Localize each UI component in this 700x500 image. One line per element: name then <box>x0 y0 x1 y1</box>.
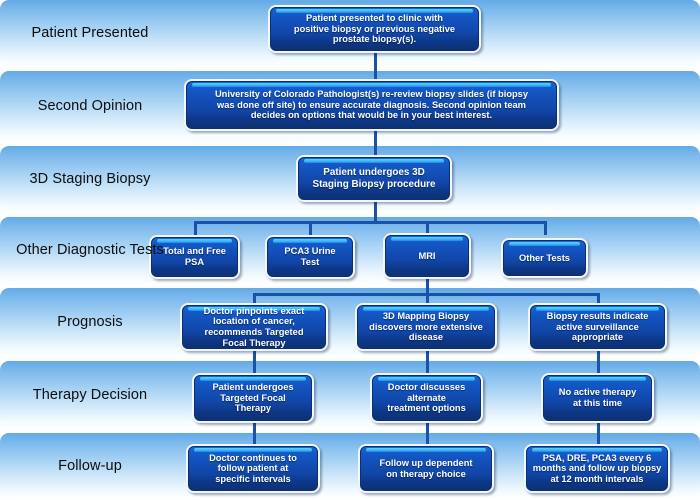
node-text: Patient undergoes Targeted Focal Therapy <box>208 380 297 416</box>
node-text: No active therapy at this time <box>555 385 641 410</box>
node-other-tests[interactable]: Other Tests <box>501 238 588 278</box>
connector-prognosis-to-therapy-2 <box>426 351 429 373</box>
connector-tests-distribution-bus <box>194 221 547 224</box>
node-prognosis-targeted-focal-therapy[interactable]: Doctor pinpoints exact location of cance… <box>180 303 328 351</box>
connector-therapy-to-followup-1 <box>253 423 256 444</box>
node-text: Doctor discusses alternate treatment opt… <box>383 380 470 416</box>
swimlane-label-patient-presented: Patient Presented <box>4 0 176 68</box>
connector-therapy-to-followup-2 <box>426 423 429 444</box>
flowchart-canvas: Patient Presented Second Opinion 3D Stag… <box>0 0 700 500</box>
node-therapy-no-active-therapy[interactable]: No active therapy at this time <box>541 373 654 423</box>
node-text: Other Tests <box>515 251 574 266</box>
node-followup-dependent-on-therapy[interactable]: Follow up dependent on therapy choice <box>358 444 494 493</box>
node-text: Biopsy results indicate active surveilla… <box>543 309 653 345</box>
node-text: Doctor continues to follow patient at sp… <box>205 451 301 487</box>
connector-prognosis-to-therapy-1 <box>253 351 256 373</box>
swimlane-label-3d-staging-biopsy: 3D Staging Biopsy <box>4 146 176 214</box>
node-text: PSA, DRE, PCA3 every 6 months and follow… <box>529 451 666 487</box>
node-text: University of Colorado Pathologist(s) re… <box>211 87 532 123</box>
node-3d-staging-biopsy-procedure[interactable]: Patient undergoes 3D Staging Biopsy proc… <box>296 155 452 202</box>
node-text: Follow up dependent on therapy choice <box>376 456 477 481</box>
swimlane-label-therapy-decision: Therapy Decision <box>4 361 176 430</box>
swimlane-label-prognosis: Prognosis <box>4 288 176 358</box>
connector-bus-to-pca3-urine <box>309 221 312 235</box>
node-patient-presented[interactable]: Patient presented to clinic with positiv… <box>268 5 481 53</box>
node-text: 3D Mapping Biopsy discovers more extensi… <box>365 309 487 345</box>
node-text: Patient presented to clinic with positiv… <box>290 11 459 47</box>
connector-bus-to-prognosis-targeted <box>253 293 256 303</box>
node-text: Doctor pinpoints exact location of cance… <box>200 305 309 349</box>
node-therapy-targeted-focal[interactable]: Patient undergoes Targeted Focal Therapy <box>192 373 314 423</box>
node-followup-specific-intervals[interactable]: Doctor continues to follow patient at sp… <box>186 444 320 493</box>
swimlane-label-follow-up: Follow-up <box>4 433 176 500</box>
node-prognosis-more-extensive-disease[interactable]: 3D Mapping Biopsy discovers more extensi… <box>355 303 497 351</box>
node-text: MRI <box>414 249 439 264</box>
connector-prognosis-to-therapy-3 <box>597 351 600 373</box>
connector-bus-to-prognosis-mapping <box>426 293 429 303</box>
node-prognosis-active-surveillance[interactable]: Biopsy results indicate active surveilla… <box>528 303 667 351</box>
swimlane-label-other-diagnostic-tests: Other Diagnostic Tests <box>4 217 176 285</box>
connector-presented-to-second-opinion <box>374 53 377 80</box>
node-text: Patient undergoes 3D Staging Biopsy proc… <box>309 165 440 192</box>
node-followup-psa-dre-pca3[interactable]: PSA, DRE, PCA3 every 6 months and follow… <box>524 444 670 493</box>
connector-therapy-to-followup-3 <box>597 423 600 444</box>
connector-bus-to-total-free-psa <box>194 221 197 235</box>
node-text: PCA3 Urine Test <box>280 244 339 269</box>
connector-second-opinion-to-staging <box>374 131 377 155</box>
connector-staging-to-tests-bus <box>374 202 377 221</box>
connector-bus-to-other-tests <box>544 221 547 235</box>
node-pca3-urine-test[interactable]: PCA3 Urine Test <box>265 235 355 279</box>
node-second-opinion-review[interactable]: University of Colorado Pathologist(s) re… <box>184 79 559 131</box>
swimlane-label-second-opinion: Second Opinion <box>4 71 176 143</box>
node-mri[interactable]: MRI <box>383 233 471 279</box>
connector-bus-to-prognosis-surveillance <box>597 293 600 303</box>
node-therapy-alternate-options[interactable]: Doctor discusses alternate treatment opt… <box>370 373 483 423</box>
